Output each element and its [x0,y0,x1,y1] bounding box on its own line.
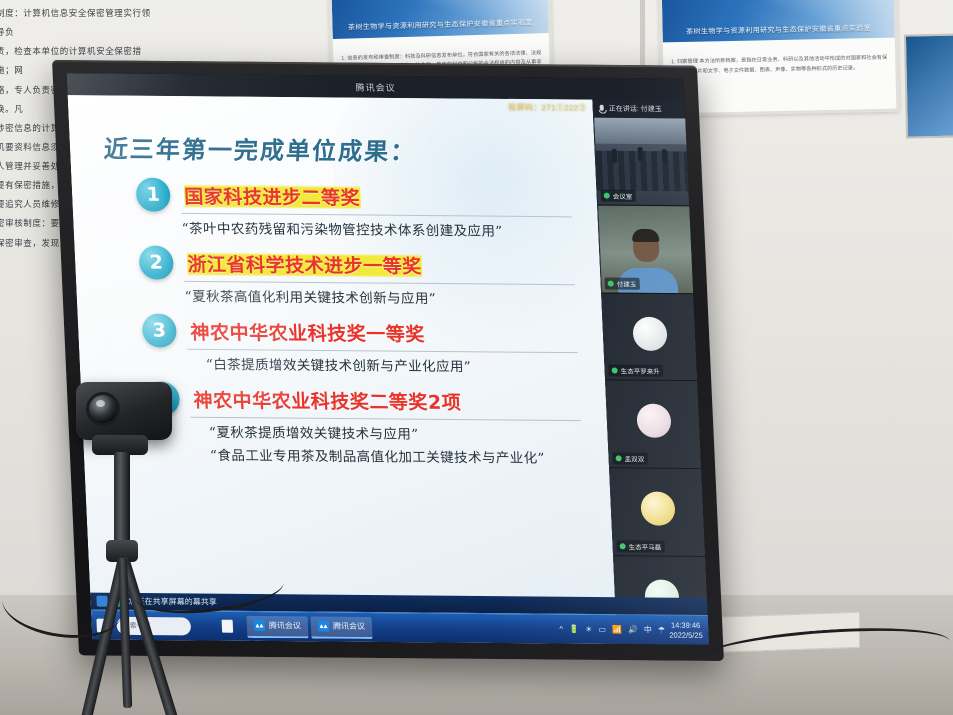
participant-name: 付建玉 [616,278,636,288]
microphone-icon [598,104,605,113]
award-title: 神农中华农业科技奖二等奖2项 [193,386,462,415]
award-title: 国家科技进步二等奖 [184,182,361,211]
poster-header-band: 茶树生物学与资源利用研究与生态保护安徽省重点实验室 [332,0,549,39]
item-number-badge: 3 [142,313,178,347]
active-speaker-label: 正在讲话: 付建玉 [609,104,662,114]
active-speaker-indicator: 正在讲话: 付建玉 [593,100,685,119]
tray-network-icon[interactable]: 📶 [612,625,622,634]
tray-battery-icon[interactable]: 🔋 [569,625,579,634]
participant-name: 生态平马磊 [628,541,661,551]
slide-item: 2 浙江省科学技术进步一等奖 “夏秋茶高值化利用关键技术创新与应用” [139,249,576,308]
taskbar-item-label: 腾讯会议 [333,621,366,632]
tencent-meeting-icon [318,621,330,632]
clock-time: 14:39:46 [669,621,703,631]
project-title: “茶叶中农药残留和污染物管控技术体系创建及应用” [181,217,572,240]
tile-hair [631,229,659,242]
participant-name-chip: 会议室 [600,189,635,201]
taskbar-clock[interactable]: 14:39:46 2022/5/25 [669,621,709,640]
tray-brightness-icon[interactable]: ☀ [585,625,593,634]
mic-status-icon [612,368,618,374]
poster-header-text: 茶树生物学与资源利用研究与生态保护安徽省重点实验室 [345,19,535,35]
avatar [640,492,676,526]
clock-date: 2022/5/25 [669,630,703,640]
participant-tile[interactable]: 生态平罗来升 [602,293,697,382]
system-tray: ^ 🔋 ☀ ▭ 📶 🔊 中 ☂ [559,624,669,636]
meeting-title: 腾讯会议 [355,80,396,93]
participant-name-chip: 孟双双 [612,453,647,465]
avatar [636,404,672,438]
participant-name: 生态平罗来升 [620,366,660,376]
tile-backdrop [594,118,686,145]
mic-status-icon [604,192,610,198]
award-title: 神农中华农业科技奖一等奖 [190,318,426,347]
participant-name: 会议室 [612,191,632,201]
project-title: “食品工业专用茶及制品高值化加工关键技术与产业化” [210,444,583,467]
share-code-label: 投屏码：271①222② [508,102,587,114]
participant-tile[interactable]: 付建玉 [598,205,693,294]
ptz-camera-tripod [48,372,228,715]
slide-item: 3 神农中华农业科技奖一等奖 “白茶提质增效关键技术创新与产业化应用” [142,317,579,376]
participant-name-chip: 生态平马磊 [616,540,664,552]
poster-header-band: 茶树生物学与资源利用研究与生态保护安徽省重点实验室 [662,0,895,43]
tray-cloud-icon[interactable]: ☂ [658,625,666,634]
tencent-meeting-icon [254,620,266,631]
slide-title: 近三年第一完成单位成果： [103,129,418,167]
tripod-column [114,452,130,548]
taskbar-spacer [375,628,559,630]
tile-person [637,147,643,161]
participant-name-chip: 付建玉 [604,277,639,289]
project-title: “白茶提质增效关键技术创新与产业化应用” [205,353,578,376]
participant-name-chip: 生态平罗来升 [608,365,663,377]
poster-header-text: 茶树生物学与资源利用研究与生态保护安徽省重点实验室 [676,24,880,39]
taskbar-item-label: 腾讯会议 [269,620,302,631]
conference-room-photo: 制度：计算机信息安全保密管理实行领导负 责，检查本单位的计算机安全保密措施；网 … [0,0,953,715]
project-title: “夏秋茶高值化利用关键技术创新与应用” [184,285,575,308]
poster-body: 1. 归案管理 本方法所称档案，是指在日常业务、科研以及其他活动中形成的对国家和… [663,38,896,84]
tray-volume-icon[interactable]: 🔊 [628,625,638,634]
tray-display-icon[interactable]: ▭ [598,625,606,634]
poster-far-right [904,33,953,138]
item-number-badge: 2 [139,245,175,279]
award-title: 浙江省科学技术进步一等奖 [187,250,423,279]
project-title: “夏秋茶提质增效关键技术与应用” [209,421,582,444]
participant-tile[interactable]: 会议室 [594,118,689,207]
item-number-badge: 1 [135,178,171,212]
mic-status-icon [620,543,626,549]
participant-tile[interactable]: 生态平马磊 [610,469,705,558]
participant-tile[interactable]: 孟双双 [606,381,701,470]
slide-item: 1 国家科技进步二等奖 “茶叶中农药残留和污染物管控技术体系创建及应用” [136,182,573,241]
camera-lens [86,392,120,426]
participant-name: 孟双双 [624,454,644,464]
tray-ime-icon[interactable]: 中 [644,624,653,635]
tray-chevron-icon[interactable]: ^ [559,625,563,634]
poster-line: 制度：计算机信息安全保密管理实行领导负 [0,4,156,42]
taskbar-item-tencent-meeting[interactable]: 腾讯会议 [310,616,372,639]
mic-status-icon [616,456,622,462]
mic-status-icon [608,280,614,286]
taskbar-item-tencent-meeting[interactable]: 腾讯会议 [246,615,308,638]
avatar [632,316,668,350]
tile-person [661,149,667,163]
